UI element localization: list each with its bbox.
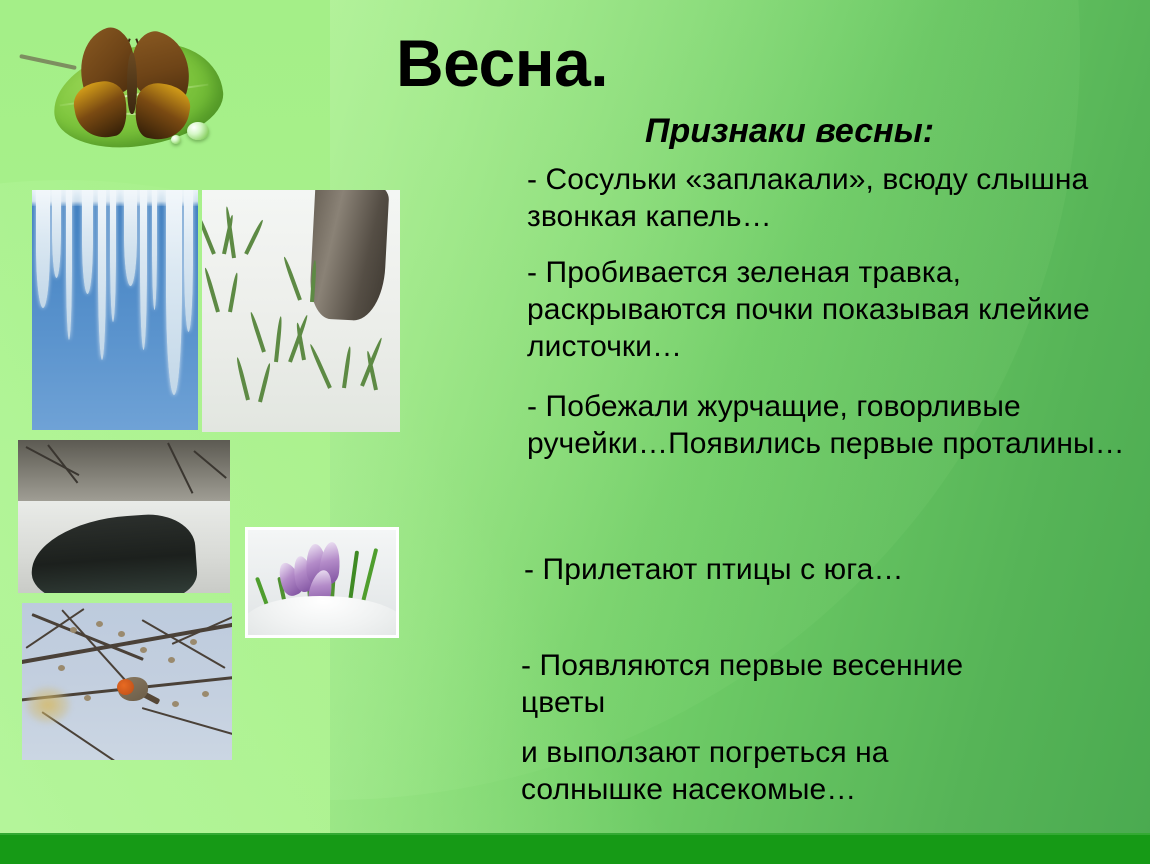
icicle — [124, 190, 137, 286]
slide-canvas: Весна. Признаки весны: - Сосульки «запла… — [0, 0, 1150, 864]
icicle — [36, 190, 50, 308]
leaf-bud — [202, 691, 209, 697]
section-subtitle: Признаки весны: — [645, 112, 934, 151]
leaf-bud — [84, 695, 91, 701]
leaf-bud — [96, 621, 103, 627]
bird-breast — [117, 679, 134, 695]
tree-branch — [172, 615, 232, 645]
icicle — [152, 190, 157, 310]
leaf-bud — [172, 701, 179, 707]
snow-bank — [245, 596, 399, 638]
bullet-item-grass: - Пробивается зеленая травка, раскрывают… — [527, 255, 1139, 366]
leaf-bud — [58, 665, 65, 671]
icicle — [110, 190, 116, 322]
bullet-item-flowers: - Появляются первые весенние цветы — [521, 648, 991, 722]
grass-blade — [235, 357, 250, 401]
photo-snowy-stream — [18, 440, 230, 593]
icicle — [166, 190, 182, 395]
leaf-bud — [168, 657, 175, 663]
grass-blade — [228, 272, 239, 312]
leaf-bud — [70, 627, 77, 633]
leaf-bud — [190, 639, 197, 645]
tree-branch — [61, 609, 129, 685]
grass-blade — [309, 343, 332, 388]
tree-trunk — [308, 190, 389, 322]
grass-blade — [342, 346, 352, 388]
winter-forest-backdrop — [18, 440, 230, 510]
leaf-bud — [140, 647, 147, 653]
bullet-item-streams: - Побежали журчащие, говорливые ручейки…… — [527, 389, 1145, 463]
grass-blade — [202, 212, 216, 254]
bullet-item-icicles: - Сосульки «заплакали», всюду слышна зво… — [527, 162, 1132, 236]
grass-blade — [258, 363, 272, 403]
bullet-item-birds: - Прилетают птицы с юга… — [524, 552, 954, 589]
dew-drop — [171, 135, 181, 144]
butterfly-body — [127, 52, 137, 114]
icicle — [140, 190, 147, 350]
icicle — [52, 190, 61, 278]
grass-blade — [249, 311, 266, 352]
footer-bar — [0, 833, 1150, 864]
photo-bird-on-branch — [22, 603, 232, 760]
photo-crocus-flowers — [245, 527, 399, 638]
butterfly-on-leaf-image — [35, 18, 225, 158]
leaf-stem — [19, 54, 77, 70]
blurred-foliage — [26, 687, 70, 723]
grass-blade — [282, 256, 301, 301]
bullet-item-insects: и выползают погреться на солнышке насеко… — [521, 735, 1001, 809]
grass-blade — [244, 219, 264, 255]
page-title: Весна. — [396, 30, 608, 96]
icicle — [184, 190, 193, 332]
icicle — [98, 190, 106, 360]
tree-branch — [142, 707, 232, 736]
grass-blade — [203, 267, 220, 312]
leaf-bud — [118, 631, 125, 637]
icicle — [82, 190, 93, 294]
icicle — [66, 190, 72, 340]
photo-sprouts-in-snow — [202, 190, 400, 432]
grass-blade — [274, 316, 283, 362]
dew-drop — [187, 122, 209, 140]
photo-icicles — [32, 190, 198, 430]
